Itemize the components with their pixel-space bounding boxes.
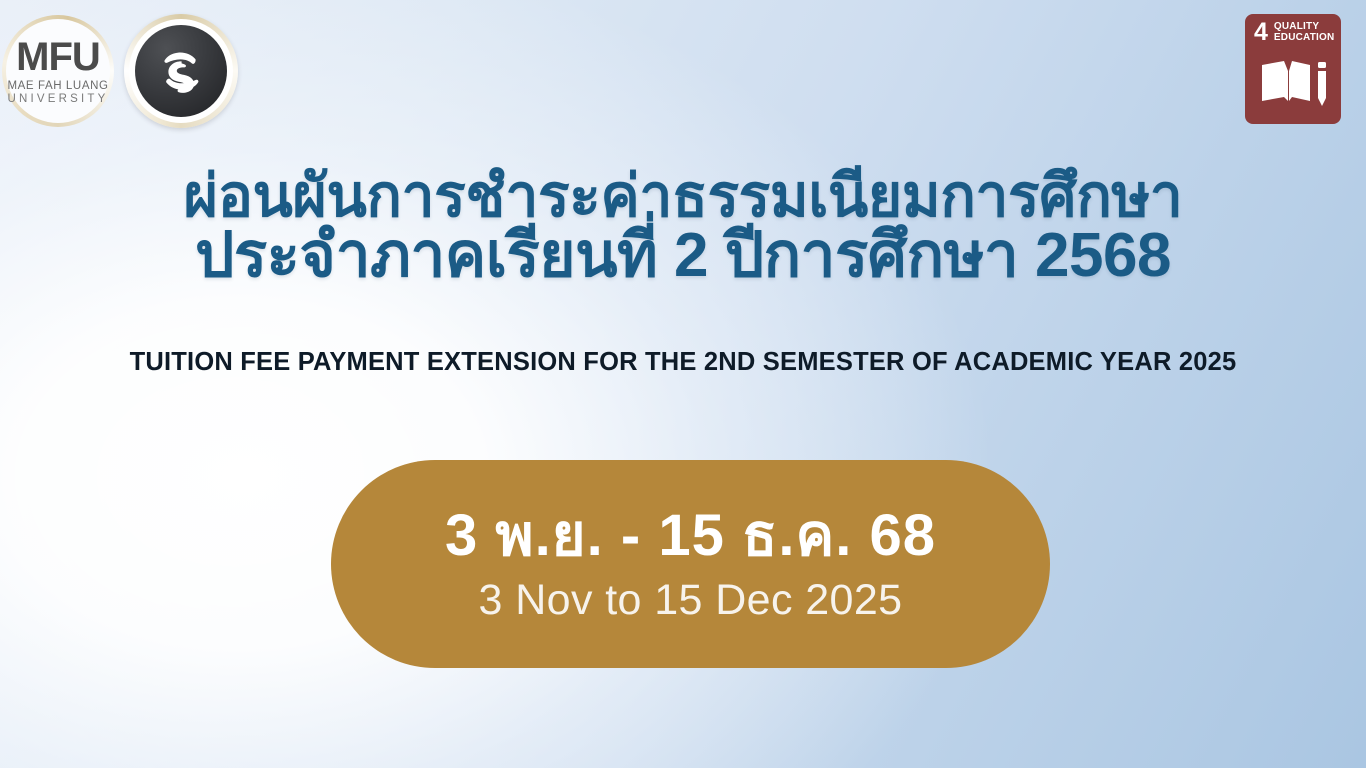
mfu-logo-mark: MFU bbox=[7, 37, 108, 77]
mfu-university-logo-icon: MFU MAE FAH LUANG UNIVERSITY bbox=[2, 15, 114, 127]
open-book-and-pencil-icon bbox=[1254, 44, 1333, 118]
sdg-goal-4-badge: 4 QUALITY EDUCATION bbox=[1245, 14, 1341, 124]
swirl-s-logo-icon bbox=[124, 14, 238, 128]
mfu-logo-line2: UNIVERSITY bbox=[7, 94, 108, 106]
poster-canvas: MFU MAE FAH LUANG UNIVERSITY 4 QUALITY E bbox=[0, 0, 1366, 768]
date-range-badge: 3 พ.ย. - 15 ธ.ค. 68 3 Nov to 15 Dec 2025 bbox=[331, 460, 1050, 668]
swirl-disc bbox=[135, 25, 227, 117]
headline-line-2: ประจำภาคเรียนที่ 2 ปีการศึกษา 2568 bbox=[0, 226, 1366, 287]
date-range-english: 3 Nov to 15 Dec 2025 bbox=[479, 579, 903, 622]
sdg-number: 4 bbox=[1254, 22, 1268, 44]
headline-line-1: ผ่อนผันการชำระค่าธรรมเนียมการศึกษา bbox=[0, 168, 1366, 226]
page-title: ผ่อนผันการชำระค่าธรรมเนียมการศึกษา ประจำ… bbox=[0, 168, 1366, 287]
logo-group: MFU MAE FAH LUANG UNIVERSITY bbox=[2, 14, 238, 128]
sdg-label-line2: EDUCATION bbox=[1274, 33, 1335, 44]
mfu-logo-line1: MAE FAH LUANG bbox=[7, 81, 108, 93]
date-range-thai: 3 พ.ย. - 15 ธ.ค. 68 bbox=[445, 507, 936, 565]
page-subtitle: TUITION FEE PAYMENT EXTENSION FOR THE 2N… bbox=[0, 348, 1366, 377]
